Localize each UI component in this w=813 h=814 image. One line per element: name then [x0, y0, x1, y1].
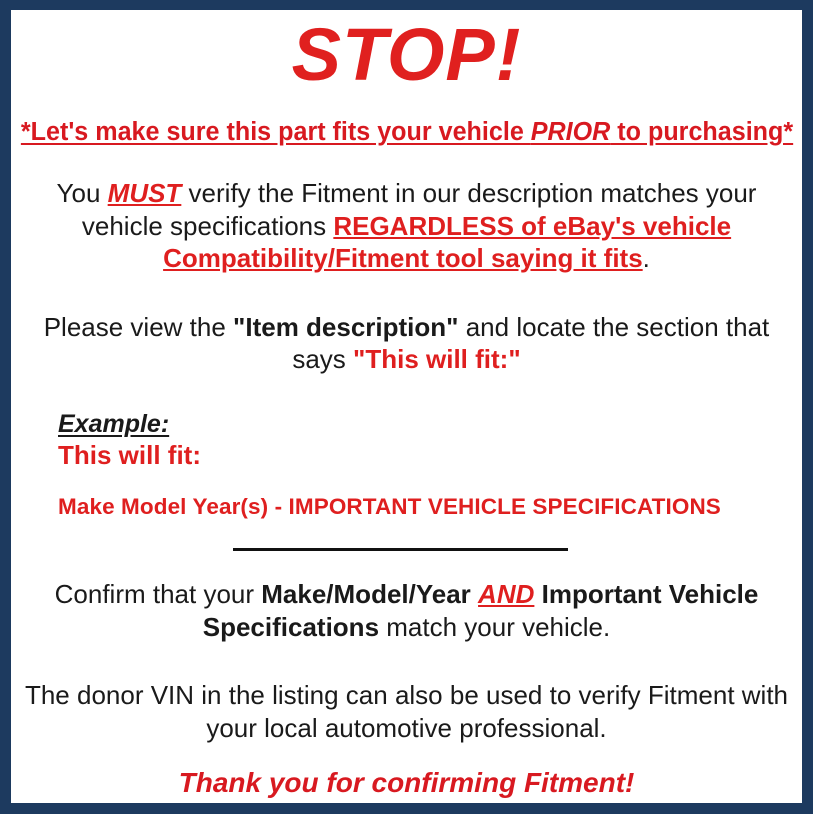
example-spec-line: Make Model Year(s) - IMPORTANT VEHICLE S…	[58, 493, 802, 520]
subtitle-line: *Let's make sure this part fits your veh…	[17, 118, 796, 146]
description-part1: Please view the	[44, 312, 233, 342]
paragraph-item-description: Please view the "Item description" and l…	[11, 311, 802, 376]
this-will-fit-emphasis: "This will fit:"	[353, 344, 521, 374]
must-part1: You	[57, 178, 108, 208]
make-model-year-emphasis: Make/Model/Year	[261, 579, 471, 609]
confirm-part3	[534, 579, 541, 609]
closing-thank-you: Thank you for confirming Fitment!	[11, 766, 802, 800]
subtitle-suffix: to purchasing*	[610, 118, 793, 146]
paragraph-donor-vin: The donor VIN in the listing can also be…	[11, 679, 802, 744]
item-description-emphasis: "Item description"	[233, 312, 458, 342]
paragraph-confirm: Confirm that your Make/Model/Year AND Im…	[11, 578, 802, 643]
and-emphasis: AND	[478, 579, 534, 609]
must-emphasis: MUST	[108, 178, 182, 208]
confirm-part1: Confirm that your	[55, 579, 262, 609]
example-label: Example:	[58, 410, 802, 439]
confirm-part2	[471, 579, 478, 609]
fitment-notice-banner: STOP! *Let's make sure this part fits yo…	[0, 0, 813, 814]
confirm-part4: match your vehicle.	[379, 612, 610, 642]
notice-card: STOP! *Let's make sure this part fits yo…	[11, 10, 802, 803]
must-part3: .	[643, 243, 650, 273]
stop-headline: STOP!	[11, 18, 802, 92]
section-divider	[233, 548, 568, 551]
paragraph-must-verify: You MUST verify the Fitment in our descr…	[11, 177, 802, 275]
example-fit-line: This will fit:	[58, 440, 802, 471]
subtitle-prefix: *Let's make sure this part fits your veh…	[21, 118, 531, 146]
example-block: Example: This will fit: Make Model Year(…	[11, 410, 802, 521]
subtitle-emphasis-prior: PRIOR	[531, 118, 611, 146]
